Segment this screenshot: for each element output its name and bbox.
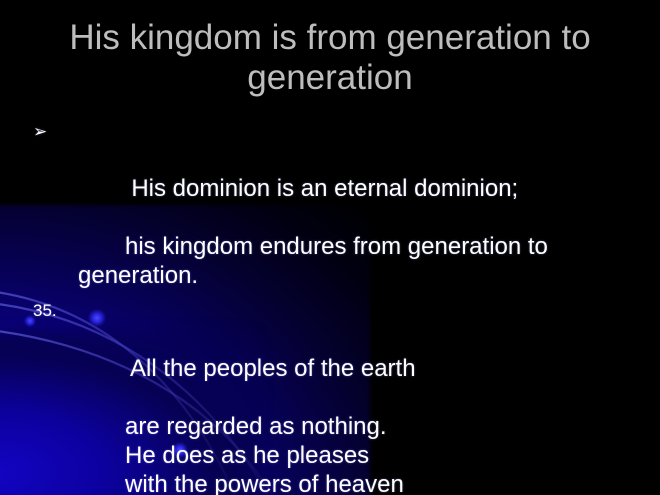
slide-title: His kingdom is from generation to genera… [28, 18, 632, 98]
presentation-slide: His kingdom is from generation to genera… [0, 0, 660, 495]
body-line: generation. [0, 261, 660, 290]
body-line: He does as he pleases [0, 441, 660, 470]
body-line-text: All the peoples of the earth [130, 355, 416, 382]
body-line: are regarded as nothing. [0, 412, 660, 441]
body-line: with the powers of heaven [0, 470, 660, 495]
arrow-bullet-icon: ➢ [33, 117, 47, 146]
verse-line-first: 35. All the peoples of the earth [0, 296, 660, 412]
body-line-text: His dominion is an eternal dominion; [131, 175, 518, 202]
body-line: his kingdom endures from generation to [0, 232, 660, 261]
verse-number-label: 35. [33, 296, 57, 326]
slide-body: ➢ His dominion is an eternal dominion; h… [0, 116, 660, 495]
numbered-paragraph: 35. All the peoples of the earth are reg… [0, 296, 660, 495]
bullet-line-first: ➢ His dominion is an eternal dominion; [0, 116, 660, 232]
bullet-paragraph: ➢ His dominion is an eternal dominion; h… [0, 116, 660, 290]
